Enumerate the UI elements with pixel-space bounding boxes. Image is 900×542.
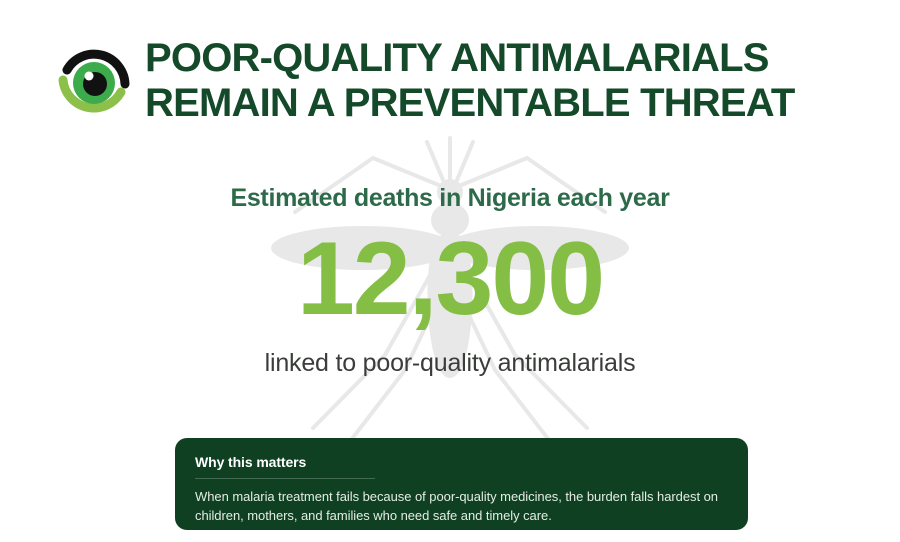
note-card-divider [195,478,375,479]
note-card-body: When malaria treatment fails because of … [195,488,728,526]
stat-caption: linked to poor-quality antimalarials [0,349,900,378]
stat-label: Estimated deaths in Nigeria each year [0,185,900,213]
statistic-block: Estimated deaths in Nigeria each year 12… [0,185,900,378]
why-this-matters-card: Why this matters When malaria treatment … [175,438,748,530]
headline-line-2: REMAIN A PREVENTABLE THREAT [145,81,795,126]
stat-value: 12,300 [0,227,900,331]
headline-line-1: POOR-QUALITY ANTIMALARIALS [145,36,795,81]
eye-icon [55,44,133,122]
eye-logo [55,44,133,122]
infographic-canvas: POOR-QUALITY ANTIMALARIALS REMAIN A PREV… [0,0,900,542]
note-card-title: Why this matters [195,454,728,470]
header: POOR-QUALITY ANTIMALARIALS REMAIN A PREV… [0,36,900,126]
page-title: POOR-QUALITY ANTIMALARIALS REMAIN A PREV… [145,36,795,126]
